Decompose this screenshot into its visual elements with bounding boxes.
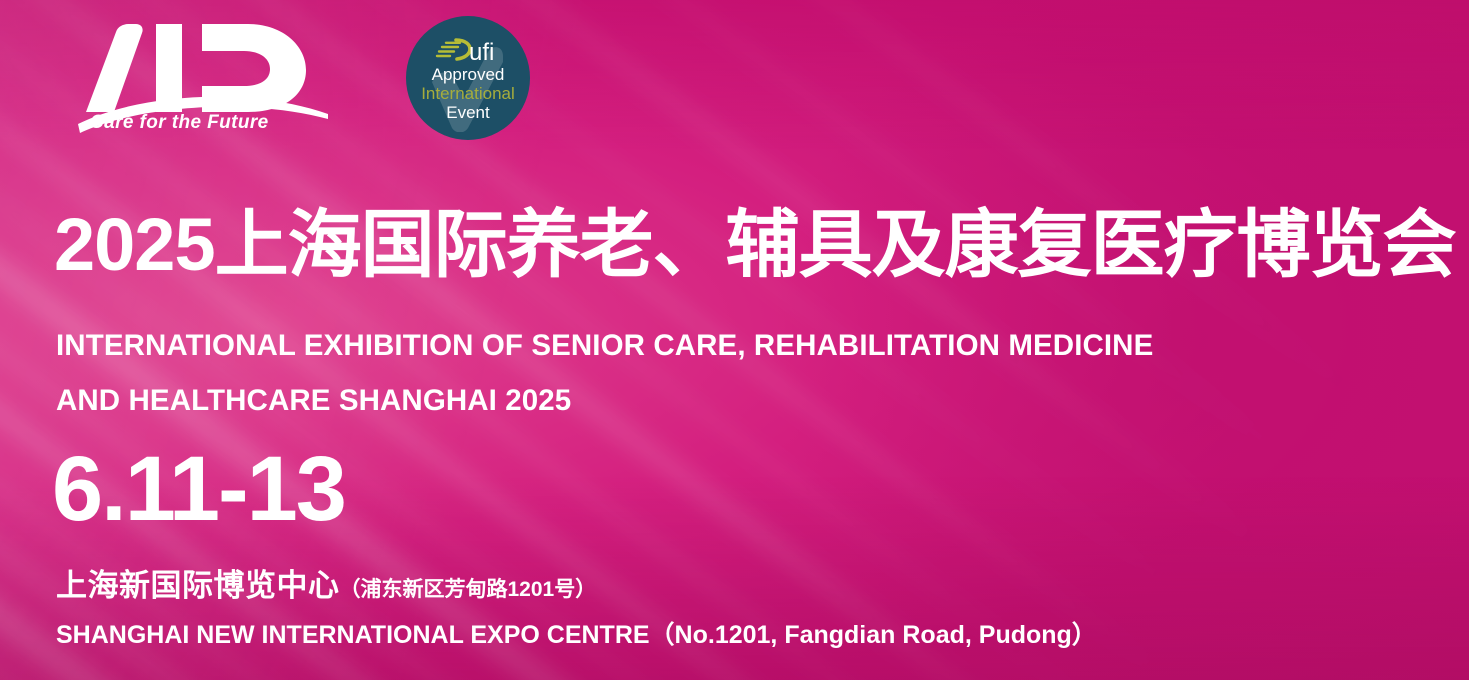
- ufi-event-label: Event: [446, 103, 489, 122]
- event-subtitle-line-2: AND HEALTHCARE SHANGHAI 2025: [56, 373, 1153, 428]
- ufi-international-label: International: [421, 84, 515, 103]
- ufi-approved-event-badge: ufi Approved International Event: [406, 16, 530, 140]
- venue-chinese-address: （浦东新区芳甸路1201号）: [340, 578, 597, 601]
- ufi-approved-label: Approved: [432, 65, 505, 84]
- svg-text:ufi: ufi: [469, 39, 494, 66]
- venue-chinese: 上海新国际博览中心（浦东新区芳甸路1201号）: [56, 570, 596, 601]
- ufi-logo-icon: ufi: [435, 37, 509, 67]
- venue-english: SHANGHAI NEW INTERNATIONAL EXPO CENTRE（N…: [56, 623, 1097, 648]
- event-date: 6.11-13: [52, 443, 345, 535]
- venue-chinese-name: 上海新国际博览中心: [56, 568, 340, 603]
- event-title-chinese: 2025上海国际养老、辅具及康复医疗博览会: [54, 208, 1456, 282]
- event-subtitle-line-1: INTERNATIONAL EXHIBITION OF SENIOR CARE,…: [56, 329, 1153, 362]
- event-banner: Care for the Future ufi: [0, 0, 1469, 680]
- aid-tagline: Care for the Future: [90, 112, 269, 134]
- event-subtitle-english: INTERNATIONAL EXHIBITION OF SENIOR CARE,…: [56, 318, 1153, 428]
